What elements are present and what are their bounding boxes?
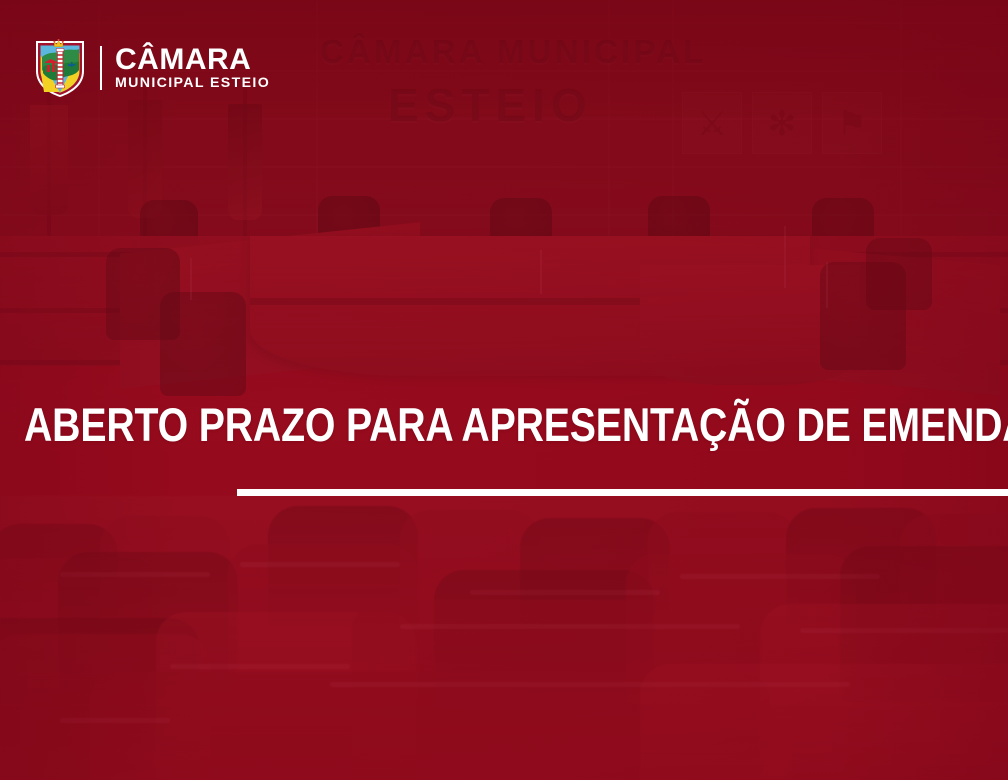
logo-subtitle: MUNICIPAL ESTEIO xyxy=(115,76,270,90)
logo-wordmark: CÂMARA MUNICIPAL ESTEIO xyxy=(115,46,270,91)
page-title: ABERTO PRAZO PARA APRESENTAÇÃO DE EMENDA… xyxy=(24,401,834,448)
title-underline-rule xyxy=(237,489,1008,496)
news-banner: CÂMARA MUNICIPAL ESTEIO ⚔ ✻ ⚑ xyxy=(0,0,1008,780)
logo-divider xyxy=(100,46,102,90)
logo[interactable]: CÂMARA MUNICIPAL ESTEIO xyxy=(34,37,270,99)
edge-vignette xyxy=(0,0,1008,780)
municipal-coat-of-arms-shield-icon xyxy=(34,37,86,99)
logo-title: CÂMARA xyxy=(115,46,270,75)
